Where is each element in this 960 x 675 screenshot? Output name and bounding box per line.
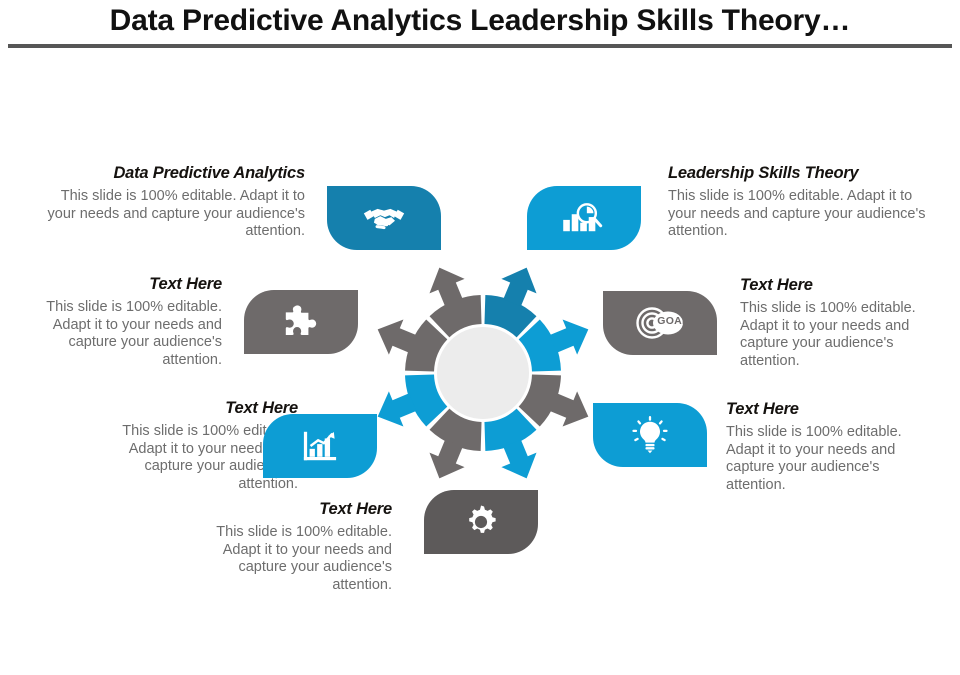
text-block-right-mid: Text Here This slide is 100% editable. A…: [740, 276, 940, 370]
goal-target-icon: GOAL: [633, 306, 687, 340]
block-heading: Text Here: [98, 399, 298, 418]
badge-data-analysis[interactable]: [527, 186, 641, 250]
block-heading: Data Predictive Analytics: [40, 164, 305, 183]
block-heading: Text Here: [184, 500, 392, 519]
wheel-svg: [358, 248, 608, 498]
block-body: This slide is 100% editable. Adapt it to…: [40, 188, 305, 241]
badge-goal[interactable]: GOAL: [603, 291, 717, 355]
gear-icon: [462, 503, 500, 541]
text-block-left-mid: Text Here This slide is 100% editable. A…: [22, 275, 222, 369]
growth-chart-icon: [302, 428, 338, 464]
badge-gear[interactable]: [424, 490, 538, 554]
goal-label: GOAL: [657, 315, 689, 327]
central-wheel-diagram: [358, 248, 608, 498]
block-heading: Leadership Skills Theory: [668, 164, 930, 183]
text-block-right-low: Text Here This slide is 100% editable. A…: [726, 400, 926, 494]
block-heading: Text Here: [22, 275, 222, 294]
block-body: This slide is 100% editable. Adapt it to…: [726, 424, 926, 494]
title-divider: [8, 44, 952, 48]
data-analysis-icon: [561, 201, 607, 235]
badge-handshake[interactable]: [327, 186, 441, 250]
handshake-icon: [362, 203, 406, 233]
text-block-bottom: Text Here This slide is 100% editable. A…: [184, 500, 392, 594]
badge-lightbulb[interactable]: [593, 403, 707, 467]
text-block-data-predictive: Data Predictive Analytics This slide is …: [40, 164, 305, 241]
page-title: Data Predictive Analytics Leadership Ski…: [0, 4, 960, 38]
block-body: This slide is 100% editable. Adapt it to…: [22, 299, 222, 369]
wheel-hub: [437, 327, 529, 419]
block-body: This slide is 100% editable. Adapt it to…: [668, 188, 930, 241]
lightbulb-icon: [632, 416, 668, 454]
block-heading: Text Here: [726, 400, 926, 419]
puzzle-piece-icon: [282, 303, 320, 341]
text-block-leadership: Leadership Skills Theory This slide is 1…: [668, 164, 930, 241]
block-body: This slide is 100% editable. Adapt it to…: [740, 300, 940, 370]
block-heading: Text Here: [740, 276, 940, 295]
badge-puzzle[interactable]: [244, 290, 358, 354]
block-body: This slide is 100% editable. Adapt it to…: [184, 524, 392, 594]
